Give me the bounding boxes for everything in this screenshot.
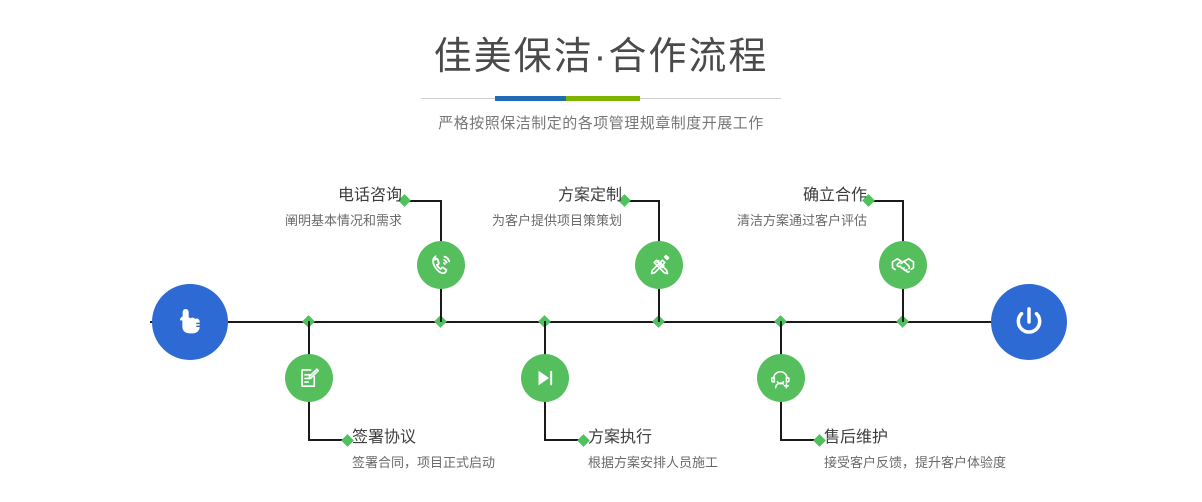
- flow-start-node[interactable]: [152, 284, 228, 360]
- timeline-diagram: 电话咨询 阐明基本情况和需求 签署协议 签署合同，项目正式启动: [0, 0, 1202, 502]
- phone-call-icon: [427, 251, 455, 279]
- step-icon-5[interactable]: [879, 241, 927, 289]
- pointing-hand-icon: [170, 302, 210, 342]
- step-label-5: 确立合作 清洁方案通过客户评估: [655, 186, 867, 229]
- step-title: 电话咨询: [190, 186, 402, 206]
- step-title: 确立合作: [655, 186, 867, 206]
- step-label-3: 方案定制 为客户提供项目策策划: [410, 186, 622, 229]
- step-icon-2[interactable]: [285, 354, 333, 402]
- step-desc: 阐明基本情况和需求: [190, 206, 402, 229]
- flow-end-node[interactable]: [991, 284, 1067, 360]
- step-icon-6[interactable]: [757, 354, 805, 402]
- step-label-2: 签署协议 签署合同，项目正式启动: [352, 428, 612, 471]
- connector-stub: [870, 200, 904, 202]
- power-icon: [1008, 301, 1050, 343]
- step-title: 签署协议: [352, 428, 612, 448]
- step-title: 售后维护: [824, 428, 1124, 448]
- process-flow-infographic: 佳美保洁·合作流程 严格按照保洁制定的各项管理规章制度开展工作: [0, 0, 1202, 502]
- step-desc: 为客户提供项目策策划: [410, 206, 622, 229]
- step-label-6: 售后维护 接受客户反馈，提升客户体验度: [824, 428, 1124, 471]
- step-desc: 根据方案安排人员施工: [588, 448, 848, 471]
- step-icon-1[interactable]: [417, 241, 465, 289]
- step-title: 方案执行: [588, 428, 848, 448]
- step-icon-3[interactable]: [635, 241, 683, 289]
- sign-document-icon: [296, 365, 322, 391]
- customer-service-add-icon: [768, 365, 794, 391]
- step-desc: 清洁方案通过客户评估: [655, 206, 867, 229]
- step-icon-4[interactable]: [521, 354, 569, 402]
- step-desc: 签署合同，项目正式启动: [352, 448, 612, 471]
- play-execute-icon: [532, 365, 558, 391]
- handshake-icon: [889, 251, 917, 279]
- step-label-1: 电话咨询 阐明基本情况和需求: [190, 186, 402, 229]
- step-desc: 接受客户反馈，提升客户体验度: [824, 448, 1124, 471]
- step-title: 方案定制: [410, 186, 622, 206]
- pencil-ruler-icon: [646, 252, 673, 279]
- timeline-axis: [150, 321, 1055, 323]
- step-label-4: 方案执行 根据方案安排人员施工: [588, 428, 848, 471]
